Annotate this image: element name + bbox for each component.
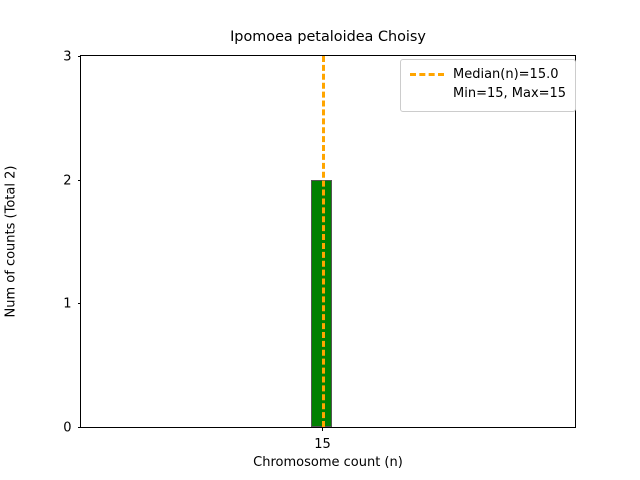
y-axis-label-text: Num of counts (Total 2)	[4, 166, 19, 318]
legend-entry-line2: Min=15, Max=15	[453, 85, 566, 104]
y-tick-label-1: 1	[63, 297, 71, 312]
median-line	[322, 56, 325, 427]
y-tick-label-3: 3	[63, 50, 71, 65]
chart-figure: Ipomoea petaloidea Choisy Num of counts …	[0, 0, 640, 480]
x-tick-15: 15	[322, 427, 323, 431]
y-tick-label-0: 0	[63, 421, 71, 436]
x-axis-label: Chromosome count (n)	[80, 455, 576, 470]
page-title: Ipomoea petaloidea Choisy	[80, 30, 576, 46]
x-tick-label-15: 15	[314, 437, 331, 452]
y-axis-label: Num of counts (Total 2)	[0, 55, 22, 428]
legend-entry-line1: Median(n)=15.0	[453, 66, 566, 85]
legend: Median(n)=15.0 Min=15, Max=15	[400, 59, 576, 112]
y-tick-label-2: 2	[63, 173, 71, 188]
legend-entry: Median(n)=15.0 Min=15, Max=15	[453, 66, 566, 104]
y-tick-0: 0	[78, 427, 82, 428]
legend-dashed-line-icon	[410, 73, 444, 76]
